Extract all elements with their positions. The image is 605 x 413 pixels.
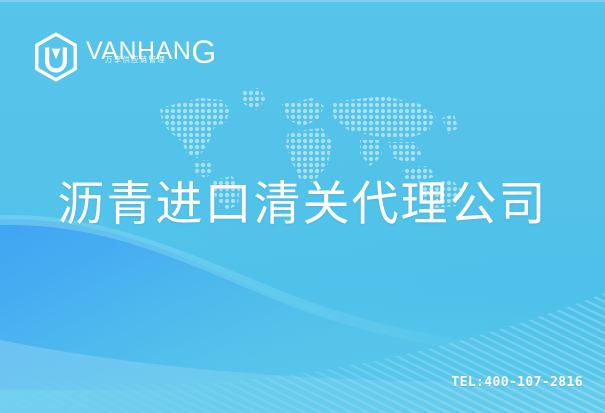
top-hairline <box>0 0 605 2</box>
vanhang-hexagon-mark-icon <box>33 32 79 82</box>
page-title: 沥青进口清关代理公司 <box>0 176 605 234</box>
brand-logo[interactable]: VANHANG 万享供应链管理 <box>33 31 217 83</box>
promotional-banner: VANHANG 万享供应链管理 沥青进口清关代理公司 TEL:400-107-2… <box>0 0 605 413</box>
contact-phone: TEL:400-107-2816 <box>451 375 583 390</box>
logo-subtitle: 万享供应链管理 <box>105 54 166 65</box>
logo-wordmark-g: G <box>191 34 216 70</box>
